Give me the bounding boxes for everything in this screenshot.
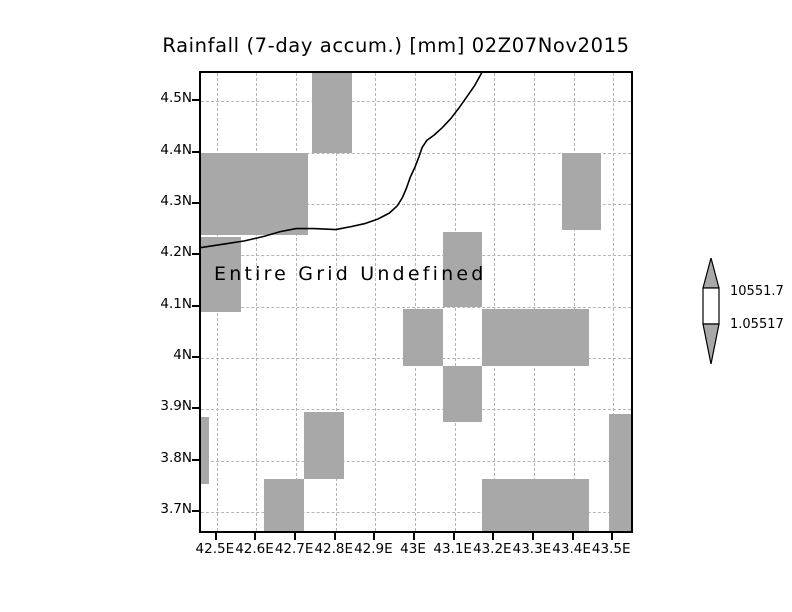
y-axis-tick-mark — [192, 356, 199, 358]
x-axis-tick-label: 42.6E — [235, 541, 274, 557]
x-axis-tick-label: 43E — [400, 541, 426, 557]
x-axis-tick-mark — [254, 533, 256, 540]
x-axis-tick-mark — [215, 533, 217, 540]
y-axis-tick-mark — [192, 99, 199, 101]
x-axis-tick-mark — [453, 533, 455, 540]
y-axis-tick-mark — [192, 202, 199, 204]
x-axis-tick-mark — [373, 533, 375, 540]
y-axis-tick-label: 3.8N — [136, 450, 192, 466]
y-axis-labels: 4.5N4.4N4.3N4.2N4.1N4N3.9N3.8N3.7N — [132, 71, 192, 533]
colorbar-middle-band — [703, 288, 719, 324]
x-axis-tick-mark — [611, 533, 613, 540]
x-axis-tick-mark — [572, 533, 574, 540]
y-axis-tick-mark — [192, 459, 199, 461]
x-axis-tick-mark — [334, 533, 336, 540]
x-axis-tick-mark — [413, 533, 415, 540]
x-axis-ticks — [199, 71, 633, 533]
x-axis-tick-label: 42.7E — [275, 541, 314, 557]
colorbar-shape — [700, 258, 726, 364]
x-axis-tick-label: 43.3E — [513, 541, 552, 557]
x-axis-tick-label: 42.8E — [314, 541, 353, 557]
x-axis-tick-mark — [294, 533, 296, 540]
page-title: Rainfall (7-day accum.) [mm] 02Z07Nov201… — [0, 34, 792, 57]
y-axis-tick-label: 3.7N — [136, 501, 192, 517]
colorbar-low-label: 1.05517 — [730, 317, 784, 332]
x-axis-tick-label: 43.4E — [552, 541, 591, 557]
y-axis-tick-mark — [192, 407, 199, 409]
y-axis-tick-mark — [192, 151, 199, 153]
colorbar-high-label: 10551.7 — [730, 284, 784, 299]
colorbar-upper-triangle — [703, 258, 719, 288]
y-axis-tick-mark — [192, 305, 199, 307]
x-axis-tick-mark — [492, 533, 494, 540]
x-axis-labels: 42.5E42.6E42.7E42.8E42.9E43E43.1E43.2E43… — [199, 541, 633, 563]
x-axis-tick-label: 43.1E — [433, 541, 472, 557]
y-axis-tick-label: 4.4N — [136, 142, 192, 158]
y-axis-tick-label: 3.9N — [136, 398, 192, 414]
y-axis-tick-mark — [192, 253, 199, 255]
y-axis-tick-label: 4N — [136, 347, 192, 363]
colorbar-legend[interactable]: 10551.7 1.05517 — [700, 258, 726, 364]
x-axis-tick-label: 42.9E — [354, 541, 393, 557]
x-axis-tick-mark — [532, 533, 534, 540]
y-axis-tick-label: 4.5N — [136, 90, 192, 106]
y-axis-tick-label: 4.2N — [136, 244, 192, 260]
x-axis-tick-label: 43.5E — [592, 541, 631, 557]
y-axis-tick-label: 4.3N — [136, 193, 192, 209]
x-axis-tick-label: 42.5E — [196, 541, 235, 557]
y-axis-tick-mark — [192, 510, 199, 512]
colorbar-lower-triangle — [703, 324, 719, 364]
y-axis-tick-label: 4.1N — [136, 296, 192, 312]
x-axis-tick-label: 43.2E — [473, 541, 512, 557]
